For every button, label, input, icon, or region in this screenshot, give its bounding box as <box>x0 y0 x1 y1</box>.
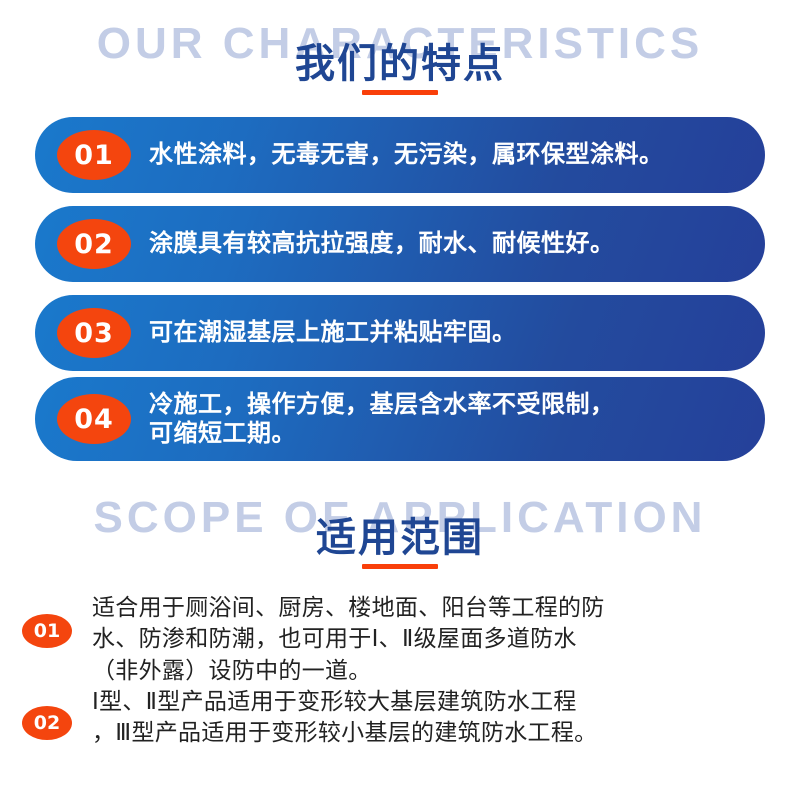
feature-pill[interactable]: 03 可在潮湿基层上施工并粘贴牢固。 <box>35 295 765 371</box>
feature-text-line: 水性涂料，无毒无害，无污染，属环保型涂料。 <box>149 140 745 169</box>
scope-text-line: ，Ⅲ型产品适用于变形较小基层的建筑防水工程。 <box>92 717 782 748</box>
scope-number-badge: 02 <box>22 706 72 740</box>
feature-pill[interactable]: 04 冷施工，操作方便，基层含水率不受限制， 可缩短工期。 <box>35 377 765 461</box>
section-heading-chinese: 适用范围 <box>0 518 800 558</box>
feature-number-badge: 04 <box>57 394 131 444</box>
feature-text-line: 涂膜具有较高抗拉强度，耐水、耐候性好。 <box>149 229 745 258</box>
scope-list-item[interactable]: 01 适合用于厕浴间、厨房、楼地面、阳台等工程的防 水、防渗和防潮，也可用于Ⅰ、… <box>22 592 782 686</box>
scope-text-line: 适合用于厕浴间、厨房、楼地面、阳台等工程的防 <box>92 592 782 623</box>
feature-text-line: 可在潮湿基层上施工并粘贴牢固。 <box>149 318 745 347</box>
feature-number-badge: 03 <box>57 308 131 358</box>
feature-pill[interactable]: 01 水性涂料，无毒无害，无污染，属环保型涂料。 <box>35 117 765 193</box>
scope-text-line: 水、防渗和防潮，也可用于Ⅰ、Ⅱ级屋面多道防水 <box>92 623 782 654</box>
heading-underline-rule <box>362 90 438 95</box>
scope-text: Ⅰ型、Ⅱ型产品适用于变形较大基层建筑防水工程 ，Ⅲ型产品适用于变形较小基层的建筑… <box>92 686 782 749</box>
feature-text-line: 可缩短工期。 <box>149 419 745 448</box>
feature-text: 涂膜具有较高抗拉强度，耐水、耐候性好。 <box>149 229 765 258</box>
feature-number-badge: 01 <box>57 130 131 180</box>
scope-text-line: Ⅰ型、Ⅱ型产品适用于变形较大基层建筑防水工程 <box>92 686 782 717</box>
feature-text-line: 冷施工，操作方便，基层含水率不受限制， <box>149 390 745 419</box>
section-heading-chinese: 我们的特点 <box>0 44 800 84</box>
promo-page: OUR CHARACTERISTICS 我们的特点 01 水性涂料，无毒无害，无… <box>0 0 800 800</box>
heading-underline-rule <box>362 564 438 569</box>
scope-text: 适合用于厕浴间、厨房、楼地面、阳台等工程的防 水、防渗和防潮，也可用于Ⅰ、Ⅱ级屋… <box>92 592 782 686</box>
feature-text: 水性涂料，无毒无害，无污染，属环保型涂料。 <box>149 140 765 169</box>
feature-pill[interactable]: 02 涂膜具有较高抗拉强度，耐水、耐候性好。 <box>35 206 765 282</box>
scope-number-badge: 01 <box>22 614 72 648</box>
feature-text: 冷施工，操作方便，基层含水率不受限制， 可缩短工期。 <box>149 390 765 449</box>
scope-list-item[interactable]: 02 Ⅰ型、Ⅱ型产品适用于变形较大基层建筑防水工程 ，Ⅲ型产品适用于变形较小基层… <box>22 686 782 749</box>
feature-text: 可在潮湿基层上施工并粘贴牢固。 <box>149 318 765 347</box>
feature-number-badge: 02 <box>57 219 131 269</box>
scope-text-line: （非外露）设防中的一道。 <box>92 655 782 686</box>
